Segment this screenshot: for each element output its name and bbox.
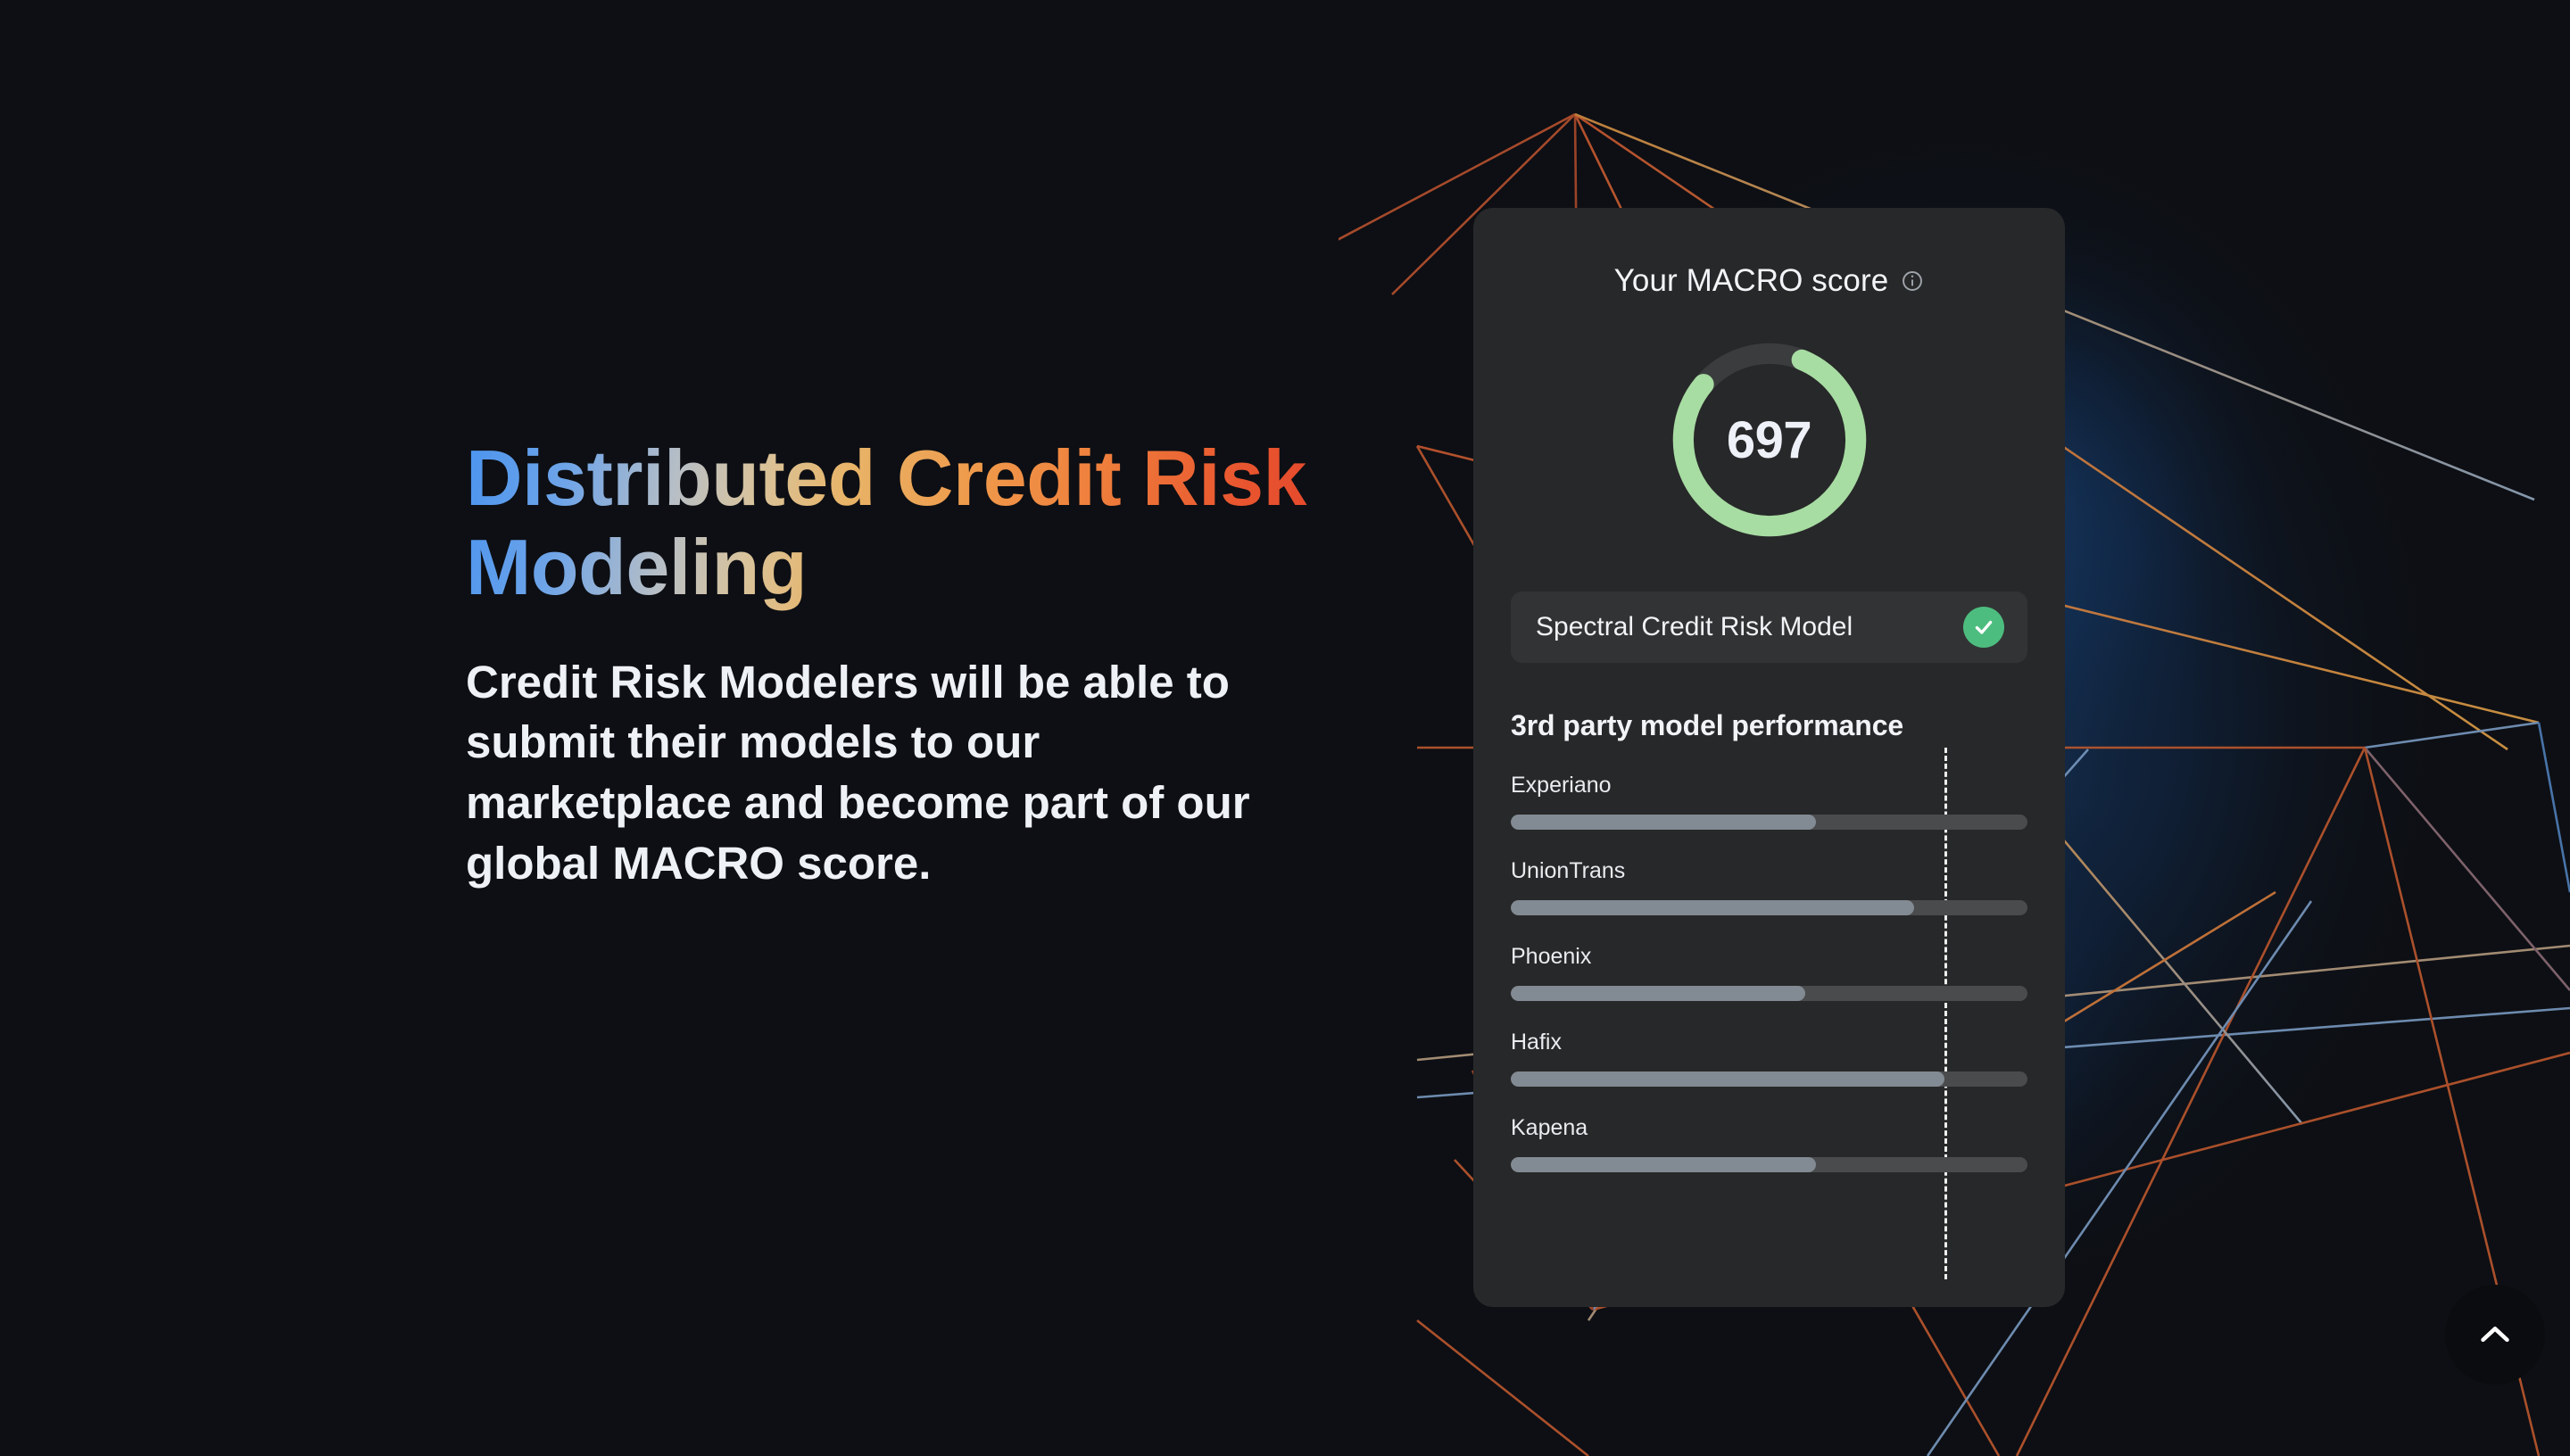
selected-model-row[interactable]: Spectral Credit Risk Model bbox=[1511, 591, 2027, 663]
model-name-label: Hafix bbox=[1511, 1030, 2027, 1055]
chevron-up-icon bbox=[2475, 1314, 2516, 1355]
model-performance-item: UnionTrans bbox=[1511, 858, 2027, 915]
model-performance-list: ExperianoUnionTransPhoenixHafixKapena bbox=[1511, 773, 2027, 1172]
performance-bar-fill bbox=[1511, 900, 1914, 915]
score-gauge-wrapper: 697 bbox=[1511, 336, 2027, 543]
performance-bar-track bbox=[1511, 815, 2027, 830]
info-icon[interactable] bbox=[1901, 269, 1924, 293]
card-header: Your MACRO score bbox=[1511, 263, 2027, 299]
performance-bar-track bbox=[1511, 986, 2027, 1001]
model-name-label: UnionTrans bbox=[1511, 858, 2027, 884]
score-gauge: 697 bbox=[1666, 336, 1873, 543]
model-name-label: Kapena bbox=[1511, 1115, 2027, 1141]
performance-bar-track bbox=[1511, 900, 2027, 915]
performance-bar-fill bbox=[1511, 1071, 1944, 1087]
macro-score-card: Your MACRO score 697 Spectral Credit Ris… bbox=[1473, 208, 2065, 1307]
hero-description: Credit Risk Modelers will be able to sub… bbox=[466, 652, 1269, 894]
card-title: Your MACRO score bbox=[1614, 263, 1889, 299]
hero-section: Distributed Credit Risk Modeling Credit … bbox=[466, 434, 1322, 894]
check-icon bbox=[1963, 607, 2004, 648]
page-title: Distributed Credit Risk Modeling bbox=[466, 434, 1322, 613]
performance-bar-fill bbox=[1511, 815, 1816, 830]
selected-model-name: Spectral Credit Risk Model bbox=[1536, 612, 1853, 642]
performance-bar-fill bbox=[1511, 1157, 1816, 1172]
model-name-label: Phoenix bbox=[1511, 944, 2027, 970]
model-name-label: Experiano bbox=[1511, 773, 2027, 798]
performance-section-heading: 3rd party model performance bbox=[1511, 709, 2027, 742]
score-value: 697 bbox=[1666, 336, 1873, 543]
performance-bar-track bbox=[1511, 1071, 2027, 1087]
model-performance-item: Hafix bbox=[1511, 1030, 2027, 1087]
scroll-to-top-button[interactable] bbox=[2445, 1285, 2545, 1385]
model-performance-item: Kapena bbox=[1511, 1115, 2027, 1172]
performance-bar-fill bbox=[1511, 986, 1805, 1001]
model-performance-item: Phoenix bbox=[1511, 944, 2027, 1001]
performance-bar-track bbox=[1511, 1157, 2027, 1172]
model-performance-item: Experiano bbox=[1511, 773, 2027, 830]
